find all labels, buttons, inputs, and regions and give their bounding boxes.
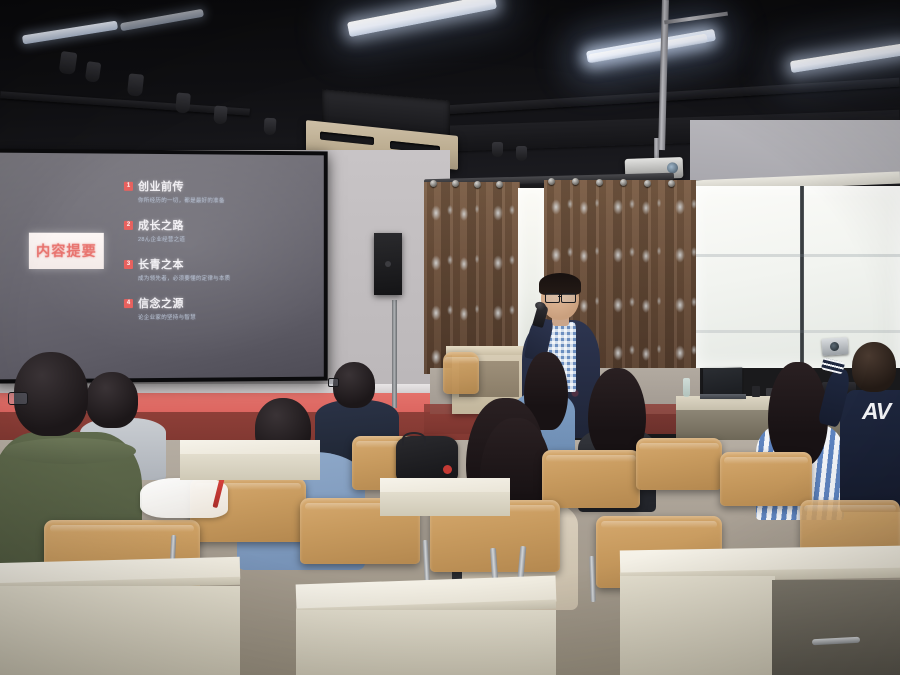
window-divider — [694, 330, 900, 333]
backpack — [396, 436, 458, 482]
a4-head — [333, 362, 375, 408]
chair — [542, 450, 640, 508]
desk-panel — [380, 492, 510, 516]
projected-slide: 内容提要 1 创业前传 你所经历的一切，都是最好的准备 2 成长之路 28ん企业… — [0, 153, 324, 380]
slide-item-number: 1 — [124, 181, 133, 190]
desk-object — [752, 386, 760, 397]
slide-item-heading: 长青之本 — [138, 256, 184, 272]
slide-item: 1 创业前传 你所经历的一切，都是最好的准备 — [124, 178, 302, 205]
speaker-hair — [539, 273, 581, 295]
slide-item-subtitle: 论企业家的坚持与智慧 — [138, 313, 302, 322]
chair — [720, 452, 812, 506]
slide-item-number: 4 — [124, 299, 133, 308]
laptop-base — [700, 394, 746, 399]
laptop-screen — [703, 367, 742, 396]
desk-drawer-unit — [772, 580, 900, 675]
projection-screen: 内容提要 1 创业前传 你所经历的一切，都是最好的准备 2 成长之路 28ん企业… — [0, 149, 328, 384]
glasses-icon — [561, 293, 576, 303]
glasses-icon — [8, 392, 28, 405]
backpack-badge — [443, 465, 452, 474]
water-bottle — [683, 378, 690, 397]
track-spotlight — [127, 73, 144, 96]
glasses-icon — [545, 293, 560, 303]
pa-speaker-stand — [392, 300, 397, 408]
slide-item-subtitle: 成为领先者，必须要懂的定律与本质 — [138, 274, 302, 282]
chair — [443, 352, 479, 394]
camera-lens — [830, 342, 840, 352]
slide-title: 内容提要 — [36, 241, 97, 261]
track-spotlight — [213, 106, 227, 125]
slide-item: 2 成长之路 28ん企业经营之道 — [124, 217, 302, 243]
desk-panel — [0, 586, 240, 675]
varsity-jacket-text: AV — [862, 398, 890, 425]
a1-hood — [4, 438, 136, 464]
slide-item: 3 长青之本 成为领先者，必须要懂的定律与本质 — [124, 256, 302, 282]
slide-item-number: 2 — [124, 220, 133, 229]
backpack-strap — [402, 432, 426, 446]
slide-agenda-list: 1 创业前传 你所经历的一切，都是最好的准备 2 成长之路 28ん企业经营之道 … — [124, 178, 302, 334]
a2-head — [86, 372, 138, 428]
pa-speaker — [374, 233, 402, 295]
slide-item-subtitle: 28ん企业经营之道 — [138, 235, 302, 243]
slide-title-box: 内容提要 — [29, 233, 104, 269]
window-mullion — [800, 186, 804, 372]
desk-panel — [620, 576, 775, 675]
track-spotlight — [175, 92, 191, 113]
desk-panel — [296, 610, 556, 675]
chair — [636, 438, 722, 490]
track-spotlight — [492, 142, 503, 157]
slide-item-number: 3 — [124, 259, 133, 268]
window-pane — [694, 186, 900, 368]
slide-item: 4 信念之源 论企业家的坚持与智慧 — [124, 295, 302, 321]
slide-item-heading: 成长之路 — [138, 217, 184, 233]
projector-lens — [667, 162, 678, 173]
desk-panel — [180, 454, 320, 480]
projector-mount-pole — [654, 138, 659, 160]
a9-head — [852, 342, 896, 392]
right-wall — [690, 120, 900, 180]
slide-item-subtitle: 你所经历的一切，都是最好的准备 — [138, 196, 302, 205]
camera — [821, 337, 848, 356]
window-divider — [694, 254, 900, 257]
lecture-hall-photo: 内容提要 1 创业前传 你所经历的一切，都是最好的准备 2 成长之路 28ん企业… — [0, 0, 900, 675]
slide-item-heading: 信念之源 — [138, 295, 184, 311]
glasses-bridge — [558, 296, 562, 297]
track-spotlight — [264, 118, 277, 136]
slide-item-heading: 创业前传 — [138, 178, 184, 194]
glasses-icon — [328, 378, 339, 387]
track-spotlight — [516, 146, 527, 161]
